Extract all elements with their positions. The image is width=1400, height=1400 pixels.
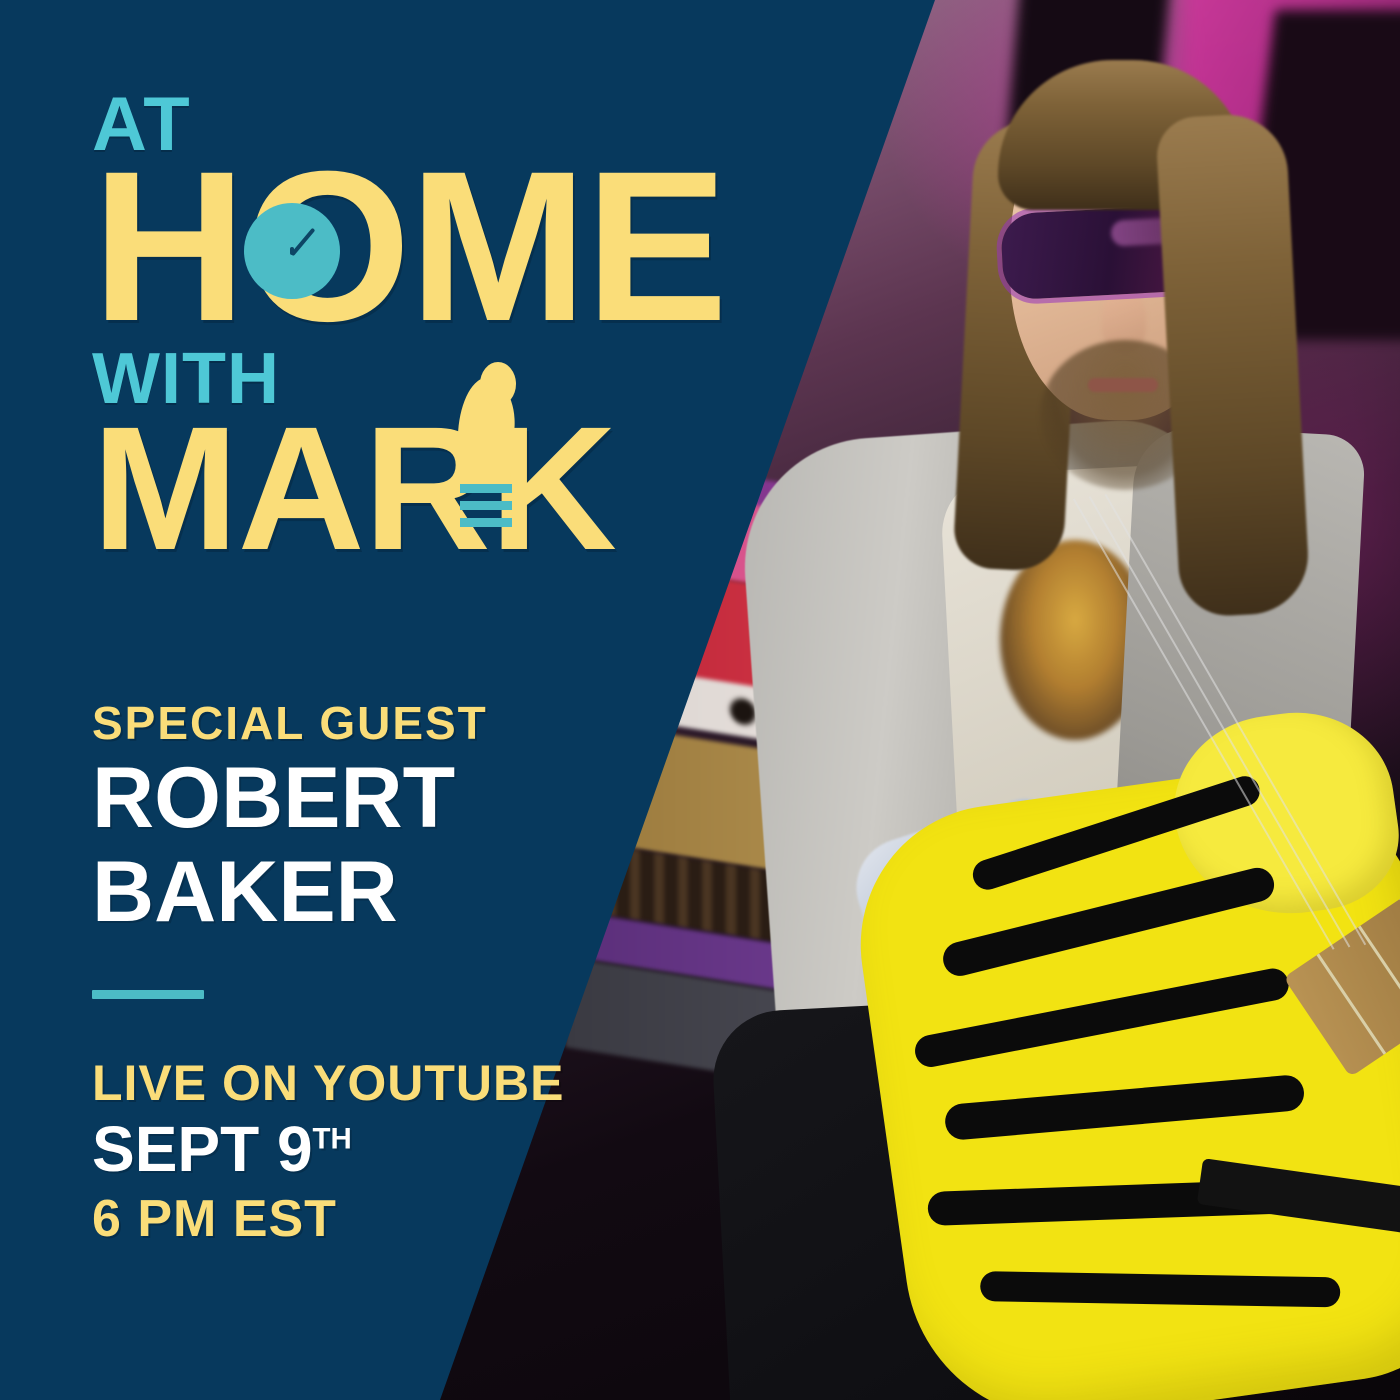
guest-last-name: BAKER: [92, 850, 652, 934]
guest-first-name: ROBERT: [92, 756, 652, 840]
broadcast-platform: LIVE ON YOUTUBE: [92, 1058, 652, 1108]
clock-icon: [244, 203, 340, 299]
broadcast-time: 6 PM EST: [92, 1193, 652, 1245]
broadcast-date-ordinal: TH: [313, 1123, 352, 1156]
fret-bar: [460, 484, 512, 493]
guest-kicker: SPECIAL GUEST: [92, 700, 652, 746]
fret-bar: [460, 518, 512, 527]
fret-bar: [460, 501, 512, 510]
mouth: [1088, 378, 1158, 392]
logo-line-mark: MARK: [92, 414, 612, 565]
broadcast-block: LIVE ON YOUTUBE SEPT 9TH 6 PM EST: [92, 1058, 652, 1245]
head: [970, 60, 1270, 460]
guitar-headstock-icon: [458, 362, 516, 490]
hair-right: [1155, 112, 1311, 618]
clock-hand-hour: [290, 247, 294, 255]
clock-hand-minute: [290, 228, 315, 257]
logo-line-home-row: HOME: [92, 161, 612, 333]
show-logo: AT HOME WITH MARK: [92, 92, 612, 574]
electric-guitar: [834, 680, 1400, 1400]
headstock-tip: [480, 362, 516, 406]
guest-block: SPECIAL GUEST ROBERT BAKER: [92, 700, 652, 935]
broadcast-date-main: SEPT 9: [92, 1113, 313, 1185]
fret-bars: [460, 484, 512, 528]
logo-line-mark-row: MARK: [92, 414, 612, 574]
fret: [1317, 954, 1387, 1055]
promo-poster: AT HOME WITH MARK SPECIAL GUEST: [0, 0, 1400, 1400]
broadcast-date: SEPT 9TH: [92, 1116, 652, 1183]
divider-rule: [92, 990, 204, 999]
logo-line-home: HOME: [92, 161, 612, 332]
tiger-stripe: [980, 1271, 1340, 1307]
